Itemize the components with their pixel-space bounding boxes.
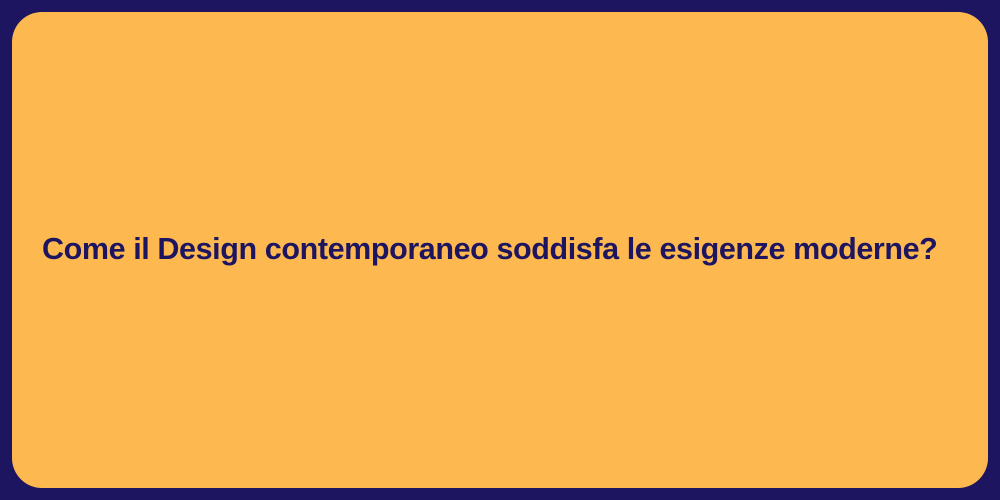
headline-container: Come il Design contemporaneo soddisfa le… (12, 12, 988, 488)
content-card: Come il Design contemporaneo soddisfa le… (12, 12, 988, 488)
page-title: Come il Design contemporaneo soddisfa le… (12, 232, 937, 267)
page-background: Come il Design contemporaneo soddisfa le… (0, 0, 1000, 500)
